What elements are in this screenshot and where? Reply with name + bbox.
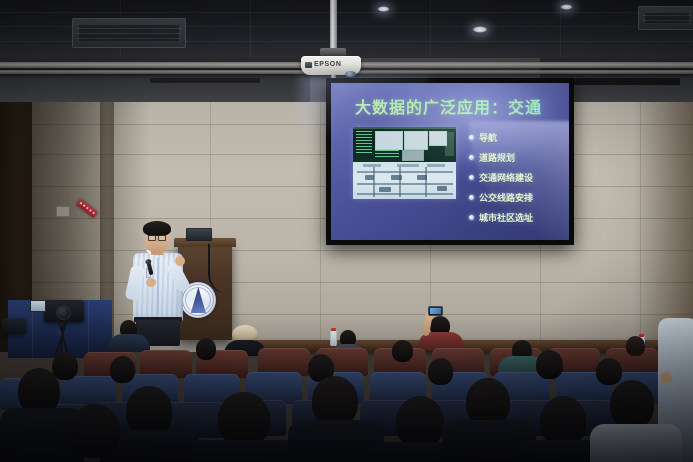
- list-item: 交通网络建设: [469, 171, 533, 184]
- laptop: [186, 228, 212, 241]
- audience-head: [110, 356, 135, 383]
- bullet-dot-icon: [469, 215, 474, 220]
- audience-head-front: [466, 378, 510, 426]
- speaker-shirt-placket: [157, 258, 159, 314]
- water-bottle: [330, 330, 337, 346]
- lecture-hall-photo: EPSON 大数据的广泛应用：交通: [0, 0, 693, 462]
- bullet-text: 交通网络建设: [479, 171, 533, 184]
- list-item: 公交线路安排: [469, 191, 533, 204]
- audience-head: [536, 350, 563, 379]
- equipment-case: [2, 318, 26, 334]
- bullet-text: 城市社区选址: [479, 211, 533, 224]
- slide-surface: 大数据的广泛应用：交通: [331, 83, 569, 240]
- audience-head: [196, 338, 216, 360]
- bullet-text: 导航: [479, 131, 497, 144]
- bullet-text: 公交线路安排: [479, 191, 533, 204]
- audience-head: [52, 352, 78, 380]
- wall-shadow: [633, 102, 693, 352]
- audience-head-front: [312, 376, 358, 426]
- projector-pole: [330, 0, 337, 50]
- audience-head-front: [218, 392, 270, 446]
- ceiling-light: [560, 4, 573, 10]
- audience-head-front: [610, 380, 654, 428]
- ceiling-rail: [150, 78, 260, 83]
- list-item: 导航: [469, 131, 533, 144]
- glasses-icon: [148, 235, 166, 240]
- slide-bullet-list: 导航 道路规划 交通网络建设 公交线路安排 城市社区选址: [469, 131, 533, 224]
- audience-head-front: [126, 386, 172, 436]
- slide-title: 大数据的广泛应用：交通: [355, 94, 542, 118]
- ceiling-light: [377, 6, 390, 12]
- traffic-control-image: [353, 127, 456, 162]
- air-conditioning-vent: [72, 18, 186, 48]
- list-item: 道路规划: [469, 151, 533, 164]
- speaker-hair: [143, 221, 171, 236]
- ceiling-light: [472, 26, 488, 33]
- projector: EPSON: [301, 56, 361, 75]
- projector-mount: [320, 48, 346, 56]
- list-item: 城市社区选址: [469, 211, 533, 224]
- projector-brand-label: EPSON: [314, 61, 342, 68]
- audience-head: [596, 358, 622, 385]
- bullet-dot-icon: [469, 195, 474, 200]
- wall-plate: [56, 206, 70, 217]
- air-conditioning-vent: [638, 6, 693, 30]
- speaker-hand-gesture: [175, 256, 185, 266]
- audience-head-front: [70, 404, 120, 458]
- slide-image-traffic: [353, 127, 456, 199]
- speaker-hand-mic: [146, 278, 156, 287]
- audience-shoulders-front: [590, 424, 682, 462]
- camera-screen: [30, 300, 46, 312]
- bullet-dot-icon: [469, 155, 474, 160]
- camera-lens-icon: [56, 305, 71, 320]
- audience-head: [392, 340, 413, 362]
- audience-head-front: [540, 396, 586, 446]
- projector-lens-icon: [345, 71, 356, 77]
- traffic-network-image: [353, 162, 456, 199]
- audience-shoulders: [108, 334, 150, 352]
- projection-screen: 大数据的广泛应用：交通: [326, 78, 574, 245]
- audience-head: [428, 358, 453, 385]
- bullet-dot-icon: [469, 135, 474, 140]
- audience-head: [626, 336, 645, 356]
- smartphone: [428, 306, 443, 316]
- bullet-text: 道路规划: [479, 151, 515, 164]
- audience-shoulders-front: [190, 440, 298, 462]
- projector-logo-icon: [305, 62, 312, 68]
- bullet-dot-icon: [469, 175, 474, 180]
- standing-person-hand: [660, 372, 672, 383]
- audience-head-front: [396, 396, 444, 448]
